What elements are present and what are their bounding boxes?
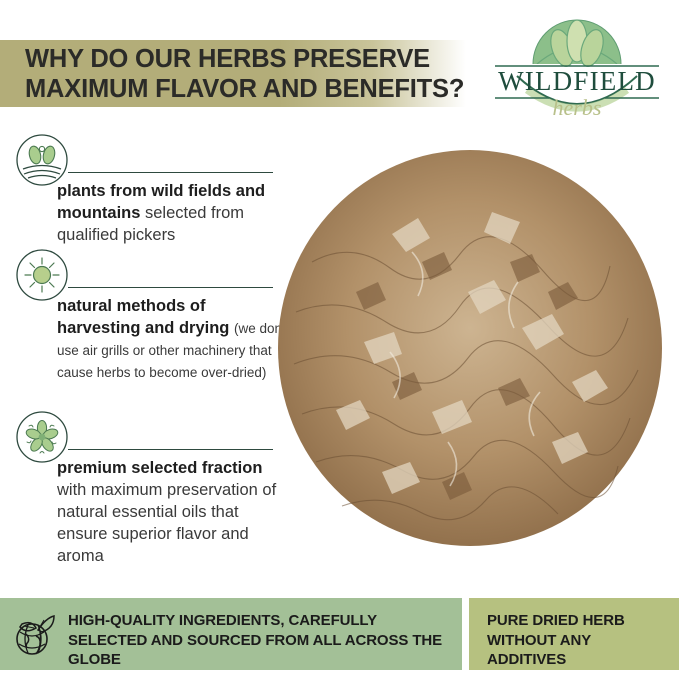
feature-text-2: natural methods of harvesting and drying… (57, 295, 292, 383)
globe-leaf-icon (10, 610, 58, 658)
feature-divider-3 (68, 449, 273, 450)
feature-regular-3: with maximum preservation of natural ess… (57, 481, 276, 565)
feature-divider-1 (68, 172, 273, 173)
banner-text-pure-dried: PURE DRIED HERB WITHOUT ANY ADDITIVES (487, 611, 672, 670)
brand-logo: WILDFIELD herbs (487, 18, 667, 133)
logo-script: herbs (553, 95, 602, 120)
page-title: WHY DO OUR HERBS PRESERVE MAXIMUM FLAVOR… (25, 44, 485, 104)
feature-bold-3: premium selected fraction (57, 459, 262, 477)
banner-text-high-quality: HIGH-QUALITY INGREDIENTS, CAREFULLY SELE… (68, 611, 448, 670)
feature-text-1: plants from wild fields and mountains se… (57, 180, 292, 246)
feature-divider-2 (68, 287, 273, 288)
banner-pure-dried: PURE DRIED HERB WITHOUT ANY ADDITIVES (469, 598, 679, 670)
infographic-page: WHY DO OUR HERBS PRESERVE MAXIMUM FLAVOR… (0, 0, 679, 679)
logo-wordmark: WILDFIELD (498, 66, 656, 96)
feature-text-3: premium selected fraction with maximum p… (57, 457, 292, 567)
feature-bold-2: natural methods of harvesting and drying (57, 297, 229, 337)
banner-high-quality: HIGH-QUALITY INGREDIENTS, CAREFULLY SELE… (0, 598, 462, 670)
dried-herb-pile-photo (272, 142, 668, 554)
